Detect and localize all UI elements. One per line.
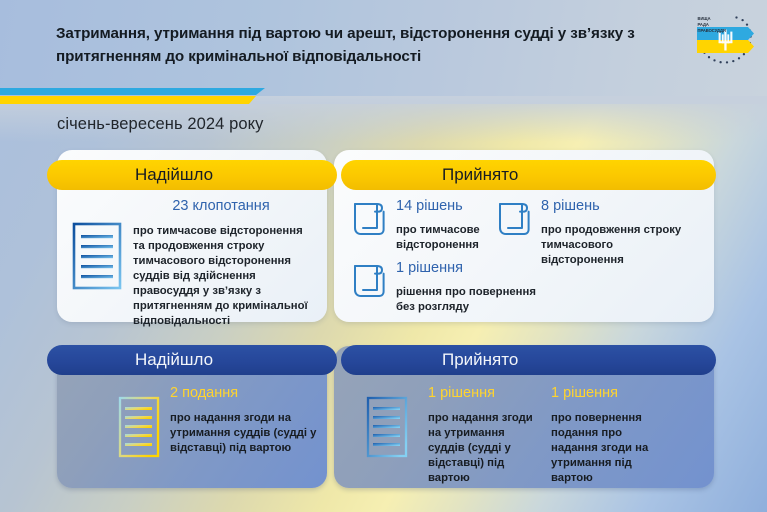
item-1-rishennya-suspension: 1 рішення рішення про повернення без роз… bbox=[396, 260, 541, 315]
document-icon-detention-adopted bbox=[366, 396, 408, 458]
item-1-rishennya-detention-consent-count: 1 рішення bbox=[428, 385, 540, 402]
logo-line-3: ПРАВОСУДДЯ bbox=[698, 28, 726, 33]
pill-detention-received[interactable]: Надійшло bbox=[47, 345, 337, 375]
item-23-klopotannya: 23 клопотання про тимчасове відстороненн… bbox=[133, 198, 315, 330]
item-14-rishen: 14 рішень про тимчасове відсторонення bbox=[396, 198, 501, 253]
item-23-klopotannya-count: 23 клопотання bbox=[127, 198, 315, 215]
item-1-rishennya-suspension-description: рішення про повернення без розгляду bbox=[396, 285, 541, 315]
logo-line-2: РАДА bbox=[698, 22, 709, 27]
item-8-rishen: 8 рішень про продовження строку тимчасов… bbox=[541, 198, 696, 268]
scroll-icon-14-rishen bbox=[352, 198, 388, 240]
pill-suspension-received-label: Надійшло bbox=[135, 165, 213, 185]
document-icon-detention-received bbox=[118, 396, 160, 458]
item-1-rishennya-detention-return-count: 1 рішення bbox=[551, 385, 663, 402]
pill-detention-received-label: Надійшло bbox=[135, 350, 213, 370]
pill-suspension-received[interactable]: Надійшло bbox=[47, 160, 337, 190]
item-14-rishen-count: 14 рішень bbox=[396, 198, 501, 215]
item-2-podannya-description: про надання згоди на утримання суддів (с… bbox=[170, 411, 320, 456]
document-icon-suspension-received bbox=[72, 222, 122, 290]
pill-detention-adopted[interactable]: Прийнято bbox=[341, 345, 716, 375]
item-8-rishen-description: про продовження строку тимчасового відст… bbox=[541, 223, 696, 268]
item-1-rishennya-detention-return: 1 рішення про повернення подання про над… bbox=[551, 385, 663, 486]
item-23-klopotannya-description: про тимчасове відсторонення та продовжен… bbox=[133, 224, 315, 329]
logo-line-1: ВИЩА bbox=[698, 16, 711, 21]
flag-stripe-decoration bbox=[0, 88, 265, 104]
item-1-rishennya-detention-return-description: про повернення подання про надання згоди… bbox=[551, 411, 663, 486]
item-1-rishennya-suspension-count: 1 рішення bbox=[396, 260, 541, 277]
item-1-rishennya-detention-consent: 1 рішення про надання згоди на утримання… bbox=[428, 385, 540, 486]
item-2-podannya: 2 подання про надання згоди на утримання… bbox=[170, 385, 320, 456]
period-subtitle: січень-вересень 2024 року bbox=[57, 115, 264, 134]
pill-suspension-adopted-label: Прийнято bbox=[442, 165, 518, 185]
scroll-icon-8-rishen bbox=[497, 198, 533, 240]
item-1-rishennya-detention-consent-description: про надання згоди на утримання суддів (с… bbox=[428, 411, 540, 486]
item-14-rishen-description: про тимчасове відсторонення bbox=[396, 223, 501, 253]
item-8-rishen-count: 8 рішень bbox=[541, 198, 696, 215]
pill-detention-adopted-label: Прийнято bbox=[442, 350, 518, 370]
high-council-of-justice-logo: ВИЩА РАДА ПРАВОСУДДЯ bbox=[664, 8, 756, 92]
item-2-podannya-count: 2 подання bbox=[170, 385, 320, 402]
scroll-icon-1-rishennya-suspension bbox=[352, 260, 388, 302]
pill-suspension-adopted[interactable]: Прийнято bbox=[341, 160, 716, 190]
page-title: Затримання, утримання під вартою чи ареш… bbox=[56, 22, 646, 69]
